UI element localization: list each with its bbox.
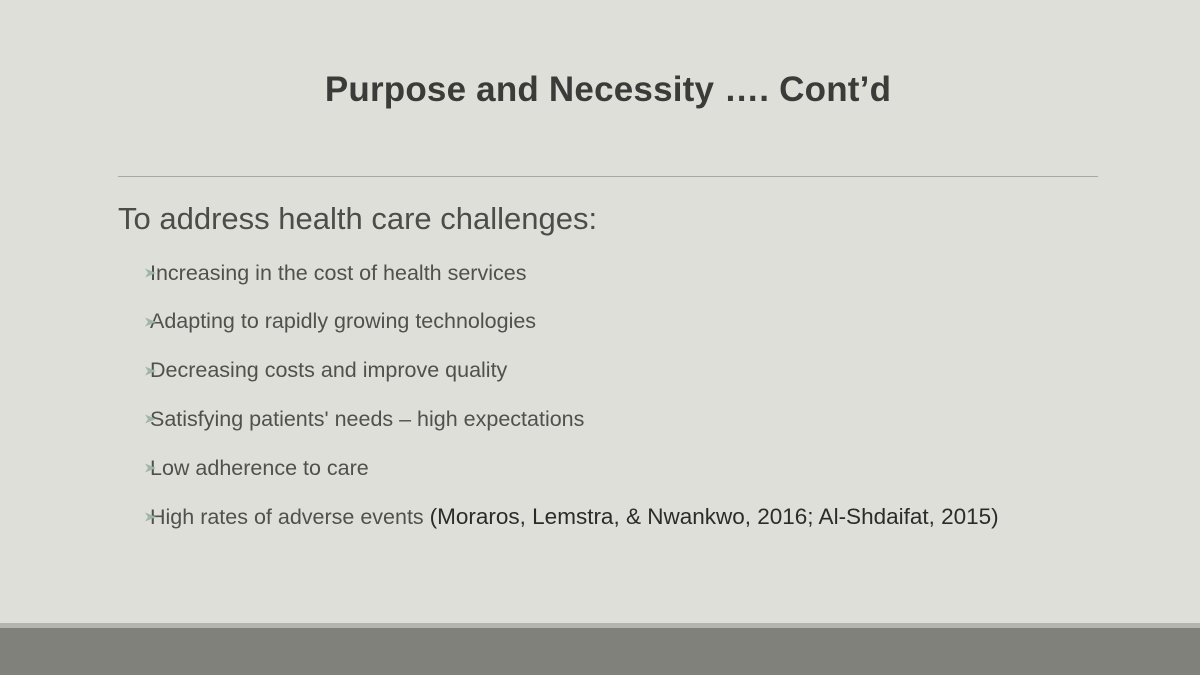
list-item: Increasing in the cost of health service…	[118, 261, 1128, 286]
list-item-label: Decreasing costs and improve quality	[150, 358, 507, 382]
presentation-slide: Purpose and Necessity …. Cont’d To addre…	[0, 0, 1200, 675]
title-divider-line	[118, 176, 1098, 177]
slide-title: Purpose and Necessity …. Cont’d	[118, 70, 1098, 110]
list-item: Adapting to rapidly growing technologies	[118, 309, 1128, 334]
list-item: Satisfying patients' needs – high expect…	[118, 407, 1128, 432]
lead-in-text: To address health care challenges:	[118, 200, 1128, 239]
list-item: Low adherence to care	[118, 456, 1128, 481]
list-item: High rates of adverse events (Moraros, L…	[118, 504, 1128, 530]
list-item-label: Satisfying patients' needs – high expect…	[150, 407, 584, 431]
list-item-label: Low adherence to care	[150, 456, 369, 480]
arrowhead-bullet-icon	[144, 461, 157, 474]
arrowhead-bullet-icon	[144, 364, 157, 377]
bullet-list: Increasing in the cost of health service…	[118, 261, 1128, 530]
list-item-label: Increasing in the cost of health service…	[150, 261, 526, 285]
list-item: Decreasing costs and improve quality	[118, 358, 1128, 383]
slide-body-content: To address health care challenges: Incre…	[118, 200, 1128, 530]
arrowhead-bullet-icon	[144, 413, 157, 426]
citation-reference: (Moraros, Lemstra, & Nwankwo, 2016; Al-S…	[430, 504, 999, 529]
footer-bar	[0, 628, 1200, 675]
list-item-label: High rates of adverse events	[150, 505, 430, 529]
arrowhead-bullet-icon	[144, 511, 157, 524]
list-item-label: Adapting to rapidly growing technologies	[150, 309, 536, 333]
arrowhead-bullet-icon	[144, 267, 157, 280]
arrowhead-bullet-icon	[144, 315, 157, 328]
